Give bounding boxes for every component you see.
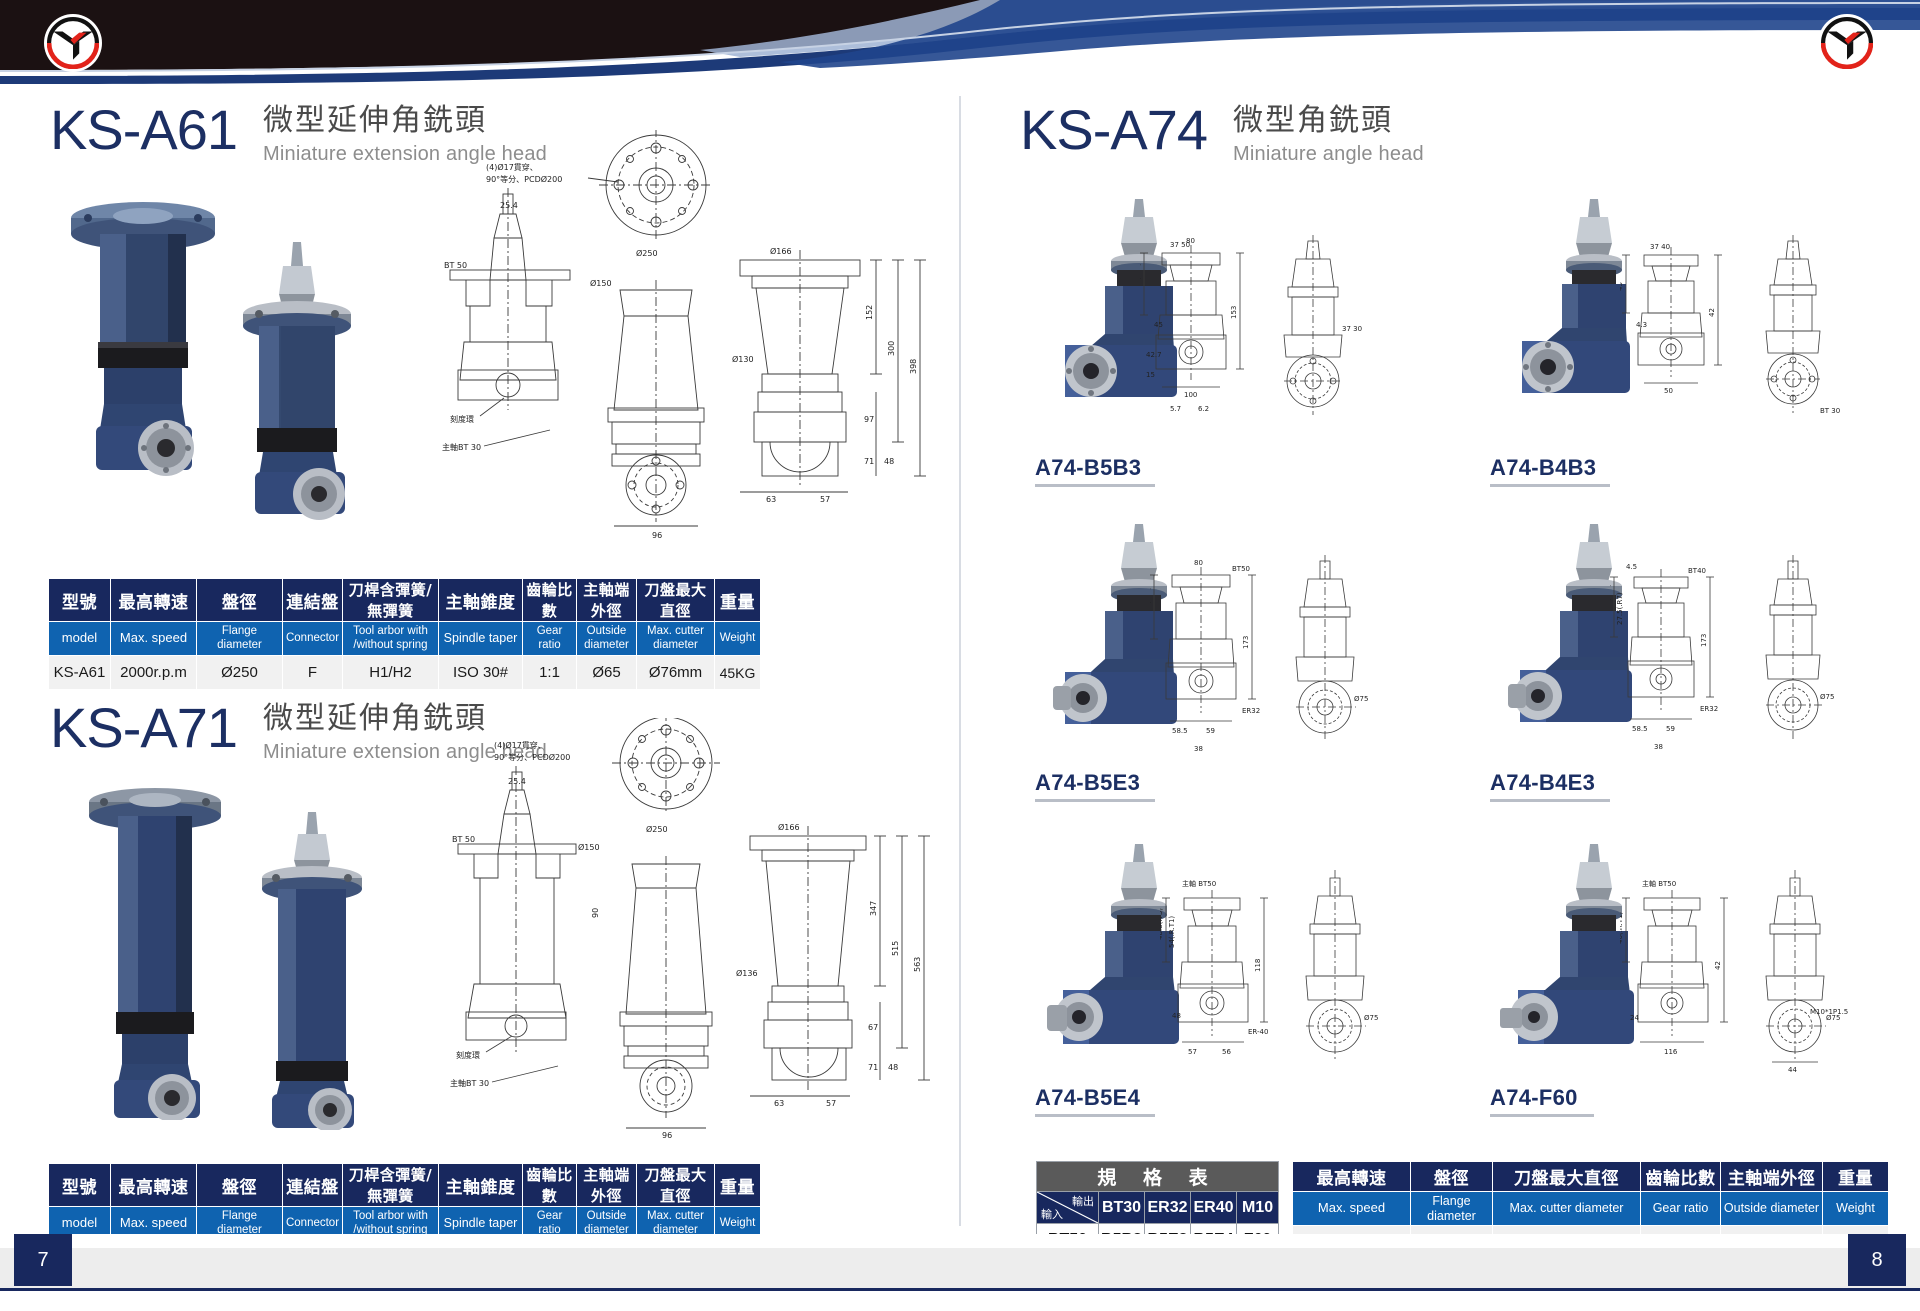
model-label: A74-B5E4 (1035, 1085, 1140, 1111)
model-caption-a74-f60: A74-F60 (1490, 1085, 1594, 1117)
svg-text:Ø75: Ø75 (1820, 693, 1834, 701)
svg-text:6.2: 6.2 (1198, 405, 1209, 413)
col-header-weight: 重量 (1823, 1162, 1889, 1192)
svg-text:主軸BT 30: 主軸BT 30 (442, 442, 481, 452)
col-subheader-flange-dia: Flange diameter (197, 622, 283, 656)
matrix-title: 規 格 表 (1037, 1162, 1279, 1192)
cell-connector: F (283, 656, 343, 690)
svg-text:BT40: BT40 (1688, 567, 1706, 575)
svg-text:刻度環: 刻度環 (456, 1050, 480, 1060)
svg-text:116: 116 (1664, 1048, 1678, 1056)
svg-text:46(.R.T1): 46(.R.T1) (1620, 912, 1624, 944)
svg-text:Ø130: Ø130 (732, 354, 754, 364)
cell-max-cutter: Ø76mm (637, 656, 715, 690)
model-label: A74-B5E3 (1035, 770, 1140, 796)
model-caption-a74-b5b3: A74-B5B3 (1035, 455, 1155, 487)
svg-text:173: 173 (1242, 636, 1250, 649)
svg-text:27.5(.R7): 27.5(.R7) (1616, 592, 1624, 625)
col-subheader-flange-dia: Flange diameter (1411, 1192, 1493, 1226)
col-header-weight: 重量 (715, 579, 761, 622)
matrix-col-header-bt30: BT30 (1099, 1192, 1145, 1224)
table-header-en-row: Max. speed Flange diameter Max. cutter d… (1293, 1192, 1889, 1226)
technical-drawing-ks-a71: (4)Ø17貫穿、 90°等分、PCDØ200 25.4 BT 50 Ø150 … (450, 718, 950, 1138)
model-caption-a74-b4b3: A74-B4B3 (1490, 455, 1610, 487)
matrix-title-row: 規 格 表 (1037, 1162, 1279, 1192)
col-header-connector: 連結盤 (283, 579, 343, 622)
svg-text:Ø250: Ø250 (636, 248, 658, 258)
matrix-col-header-er32: ER32 (1145, 1192, 1191, 1224)
col-header-outside-dia: 主軸端外徑 (577, 1164, 637, 1207)
svg-text:63: 63 (774, 1099, 784, 1108)
cell-flange-dia: Ø250 (197, 656, 283, 690)
svg-text:Ø75: Ø75 (1354, 695, 1368, 703)
svg-text:118: 118 (1254, 959, 1262, 972)
svg-text:54(.R.T1): 54(.R.T1) (1168, 916, 1176, 948)
svg-text:173: 173 (1700, 634, 1708, 647)
svg-text:515: 515 (891, 941, 900, 956)
model-caption-a74-b5e4: A74-B5E4 (1035, 1085, 1155, 1117)
svg-text:42.7: 42.7 (1146, 351, 1162, 359)
svg-text:ER32: ER32 (1242, 707, 1260, 715)
svg-text:97: 97 (864, 415, 874, 424)
svg-text:96: 96 (652, 531, 662, 540)
product-code: KS-A71 (50, 700, 237, 756)
technical-drawing-a74-b5e4-front: Ø75 (1282, 870, 1392, 1080)
svg-text:347: 347 (869, 901, 878, 916)
svg-text:15: 15 (1146, 371, 1155, 379)
matrix-corner-input-label: 輸入 (1041, 1206, 1063, 1222)
svg-text:38: 38 (1654, 743, 1663, 751)
svg-text:48: 48 (888, 1063, 898, 1072)
matrix-corner-output-label: 輸出 (1072, 1193, 1094, 1209)
technical-drawing-a74-b5b3-front: 37 30 (1260, 235, 1370, 435)
svg-text:42: 42 (1708, 308, 1716, 317)
svg-text:主軸 BT50: 主軸 BT50 (1182, 879, 1216, 888)
spec-table-ks-a61: 型號 最高轉速 盤徑 連結盤 刀桿含彈簧/無彈簧 主軸錐度 齒輪比數 主軸端外徑… (48, 578, 761, 690)
svg-text:(4)Ø17貫穿、: (4)Ø17貫穿、 (486, 162, 538, 172)
col-header-weight: 重量 (715, 1164, 761, 1207)
caption-underline (1490, 1114, 1594, 1117)
technical-drawing-a74-f60-side: 主軸 BT50 46(.R.T1) 42 116 24 (1620, 870, 1755, 1080)
cell-tool-arbor: H1/H2 (343, 656, 439, 690)
svg-text:16(.R3): 16(.R3) (1140, 263, 1142, 289)
svg-text:Ø150: Ø150 (590, 278, 612, 288)
cell-max-speed: 2000r.p.m (111, 656, 197, 690)
svg-text:BT50: BT50 (1232, 565, 1250, 573)
col-header-model: 型號 (49, 579, 111, 622)
svg-text:主軸BT 30: 主軸BT 30 (450, 1078, 489, 1088)
table-header-cn-row: 最高轉速 盤徑 刀盤最大直徑 齒輪比數 主軸端外徑 重量 (1293, 1162, 1889, 1192)
svg-text:90°等分、PCDØ200: 90°等分、PCDØ200 (486, 174, 562, 184)
svg-text:Ø150: Ø150 (578, 842, 600, 852)
svg-text:Ø250: Ø250 (646, 824, 668, 834)
svg-text:38: 38 (1194, 745, 1203, 753)
svg-text:96: 96 (662, 1131, 672, 1138)
svg-text:90°等分、PCDØ200: 90°等分、PCDØ200 (494, 752, 570, 762)
svg-text:ER-40: ER-40 (1248, 1028, 1268, 1036)
svg-text:(4)Ø17貫穿、: (4)Ø17貫穿、 (494, 740, 546, 750)
svg-text:153: 153 (1230, 306, 1238, 319)
model-caption-a74-b4e3: A74-B4E3 (1490, 770, 1610, 802)
svg-text:25.4: 25.4 (508, 777, 526, 786)
svg-text:45: 45 (1154, 321, 1163, 329)
svg-text:59: 59 (1206, 727, 1215, 735)
svg-text:BT 50: BT 50 (444, 261, 467, 270)
col-subheader-max-cutter: Max. cutter diameter (637, 622, 715, 656)
col-subheader-max-speed: Max. speed (111, 622, 197, 656)
banner-swoosh-graphic (0, 0, 1920, 84)
company-logo-right (1818, 14, 1876, 72)
svg-text:58.5: 58.5 (1632, 725, 1648, 733)
svg-text:Ø136: Ø136 (736, 968, 758, 978)
table-header-en-row: model Max. speed Flange diameter Connect… (49, 622, 761, 656)
page-footer: 7 8 (0, 1234, 1920, 1311)
svg-text:Ø166: Ø166 (770, 246, 792, 256)
svg-text:38.3(.H9): 38.3(.H9) (1610, 584, 1612, 617)
model-label: A74-F60 (1490, 1085, 1578, 1111)
catalog-page: KS-A61 微型延伸角銑頭 Miniature extension angle… (0, 0, 1920, 1311)
col-subheader-gear-ratio: Gear ratio (523, 622, 577, 656)
caption-underline (1035, 799, 1155, 802)
technical-drawing-a74-b4b3-front: BT 30 (1740, 235, 1850, 435)
table-header-cn-row: 型號 最高轉速 盤徑 連結盤 刀桿含彈簧/無彈簧 主軸錐度 齒輪比數 主軸端外徑… (49, 579, 761, 622)
svg-text:Ø75: Ø75 (1826, 1014, 1840, 1022)
col-header-model: 型號 (49, 1164, 111, 1207)
col-header-max-cutter: 刀盤最大直徑 (637, 1164, 715, 1207)
col-subheader-connector: Connector (283, 622, 343, 656)
page-number-right: 8 (1848, 1234, 1906, 1286)
technical-drawing-a74-b4e3-side: 4.5 BT40 38.3(.H9) 27.5(.R7) 173 ER32 58… (1610, 555, 1740, 765)
col-header-flange-dia: 盤徑 (1411, 1162, 1493, 1192)
product-photo-ks-a71-angled (230, 810, 400, 1130)
company-logo-left (44, 14, 102, 72)
svg-text:37 40: 37 40 (1650, 243, 1670, 251)
technical-drawing-a74-b4e3-front: Ø75 (1740, 555, 1850, 765)
col-subheader-weight: Weight (1823, 1192, 1889, 1226)
product-photo-a74-b4b3 (1490, 195, 1640, 435)
technical-drawing-a74-b5e4-side: 主軸 BT50 48.8(.T3) 54(.R.T1) 118 ER-40 57… (1160, 870, 1295, 1080)
caption-underline (1035, 1114, 1155, 1117)
table-row: KS-A61 2000r.p.m Ø250 F H1/H2 ISO 30# 1:… (49, 656, 761, 690)
svg-text:100: 100 (1184, 391, 1197, 399)
col-subheader-outside-dia: Outside diameter (1721, 1192, 1823, 1226)
col-subheader-model: model (49, 622, 111, 656)
model-label: A74-B5B3 (1035, 455, 1141, 481)
svg-text:4.5: 4.5 (1626, 563, 1637, 571)
svg-text:59: 59 (1666, 725, 1675, 733)
svg-text:44: 44 (1788, 1066, 1797, 1074)
svg-text:71: 71 (864, 457, 874, 466)
caption-underline (1490, 484, 1610, 487)
svg-text:48: 48 (884, 457, 894, 466)
svg-text:58.5: 58.5 (1172, 727, 1188, 735)
col-subheader-outside-dia: Outside diameter (577, 622, 637, 656)
svg-text:48: 48 (1172, 1012, 1181, 1020)
col-header-connector: 連結盤 (283, 1164, 343, 1207)
footer-band (0, 1248, 1920, 1288)
cell-weight: 45KG (715, 656, 761, 690)
col-header-gear-ratio: 齒輪比數 (523, 579, 577, 622)
product-title-en: Miniature angle head (1233, 141, 1424, 167)
col-subheader-gear-ratio: Gear ratio (1641, 1192, 1721, 1226)
technical-drawing-a74-b5e3-side: 80 BT50 16(.R3) 173 ER32 58.5 59 38 (1150, 555, 1280, 765)
col-subheader-max-cutter: Max. cutter diameter (1493, 1192, 1641, 1226)
svg-text:4.3: 4.3 (1636, 321, 1647, 329)
matrix-header-row: 輸出 輸入 BT30 ER32 ER40 M10 (1037, 1192, 1279, 1224)
svg-text:63: 63 (766, 495, 776, 504)
page-number-left: 7 (14, 1234, 72, 1286)
col-header-max-speed: 最高轉速 (1293, 1162, 1411, 1192)
footer-rule (0, 1288, 1920, 1291)
col-header-max-speed: 最高轉速 (111, 1164, 197, 1207)
cell-outside-dia: Ø65 (577, 656, 637, 690)
product-photo-ks-a61-angled (215, 240, 385, 540)
svg-text:80: 80 (1194, 559, 1203, 567)
table-header-cn-row: 型號 最高轉速 盤徑 連結盤 刀桿含彈簧/無彈簧 主軸錐度 齒輪比數 主軸端外徑… (49, 1164, 761, 1207)
svg-text:42: 42 (1714, 961, 1722, 970)
col-header-outside-dia: 主軸端外徑 (577, 579, 637, 622)
company-logo-icon (1821, 17, 1873, 69)
col-header-max-cutter: 刀盤最大直徑 (637, 579, 715, 622)
technical-drawing-a74-b4b3-side: 37 40 43 42 4.3 50 (1620, 235, 1750, 435)
col-header-gear-ratio: 齒輪比數 (523, 1164, 577, 1207)
svg-text:398: 398 (909, 359, 918, 374)
cell-gear-ratio: 1:1 (523, 656, 577, 690)
svg-text:ER32: ER32 (1700, 705, 1718, 713)
svg-text:50: 50 (1664, 387, 1673, 395)
col-header-outside-dia: 主軸端外徑 (1721, 1162, 1823, 1192)
col-header-flange-dia: 盤徑 (197, 579, 283, 622)
technical-drawing-a74-b5e3-front: Ø75 (1272, 555, 1382, 765)
company-logo-icon (47, 17, 99, 69)
col-header-spindle-taper: 主軸錐度 (439, 579, 523, 622)
product-title-ks-a74: KS-A74 微型角銑頭 Miniature angle head (1020, 102, 1424, 167)
model-caption-a74-b5e3: A74-B5E3 (1035, 770, 1155, 802)
col-header-max-speed: 最高轉速 (111, 579, 197, 622)
col-subheader-tool-arbor: Tool arbor with /without spring (343, 622, 439, 656)
svg-text:16(.R3): 16(.R3) (1150, 587, 1152, 613)
svg-text:37 30: 37 30 (1342, 325, 1362, 333)
svg-text:57: 57 (820, 495, 830, 504)
caption-underline (1490, 799, 1610, 802)
cell-model: KS-A61 (49, 656, 111, 690)
svg-text:57: 57 (1188, 1048, 1197, 1056)
svg-text:主軸 BT50: 主軸 BT50 (1642, 879, 1676, 888)
col-header-max-cutter: 刀盤最大直徑 (1493, 1162, 1641, 1192)
technical-drawing-a74-b5b3-side: 37 50 80 16(.R3) 153 100 45 42.7 15 5.7 … (1140, 235, 1270, 435)
svg-text:43: 43 (1620, 282, 1624, 291)
model-label: A74-B4B3 (1490, 455, 1596, 481)
cell-spindle-taper: ISO 30# (439, 656, 523, 690)
col-subheader-max-speed: Max. speed (1293, 1192, 1411, 1226)
product-code: KS-A61 (50, 102, 237, 158)
col-header-gear-ratio: 齒輪比數 (1641, 1162, 1721, 1192)
product-title-cn: 微型角銑頭 (1233, 104, 1424, 139)
technical-drawing-a74-f60-front: M10*1P1.5 44 Ø75 (1742, 870, 1852, 1080)
matrix-corner-cell: 輸出 輸入 (1037, 1192, 1099, 1224)
svg-text:152: 152 (865, 305, 874, 320)
product-photo-ks-a71-front (60, 780, 250, 1120)
svg-text:Ø75: Ø75 (1364, 1014, 1378, 1022)
svg-text:90: 90 (591, 908, 600, 918)
col-header-flange-dia: 盤徑 (197, 1164, 283, 1207)
product-code: KS-A74 (1020, 102, 1207, 158)
col-header-tool-arbor: 刀桿含彈簧/無彈簧 (343, 579, 439, 622)
product-photo-ks-a61-front (48, 190, 238, 490)
page-center-divider (959, 96, 961, 1226)
svg-text:57: 57 (826, 1099, 836, 1108)
technical-drawing-ks-a61: (4)Ø17貫穿、 90°等分、PCDØ200 25.4 BT 50 Ø150 … (440, 130, 950, 560)
svg-text:BT 30: BT 30 (1820, 407, 1840, 415)
svg-text:5.7: 5.7 (1170, 405, 1181, 413)
svg-text:56: 56 (1222, 1048, 1231, 1056)
svg-text:48.8(.T3): 48.8(.T3) (1160, 908, 1164, 940)
svg-text:25.4: 25.4 (500, 201, 518, 210)
svg-text:刻度環: 刻度環 (450, 414, 474, 424)
svg-text:Ø166: Ø166 (778, 822, 800, 832)
svg-text:67: 67 (868, 1023, 878, 1032)
svg-text:71: 71 (868, 1063, 878, 1072)
svg-text:BT 50: BT 50 (452, 835, 475, 844)
svg-text:24: 24 (1630, 1014, 1639, 1022)
col-header-spindle-taper: 主軸錐度 (439, 1164, 523, 1207)
col-header-tool-arbor: 刀桿含彈簧/無彈簧 (343, 1164, 439, 1207)
matrix-col-header-m10: M10 (1237, 1192, 1279, 1224)
top-banner (0, 0, 1920, 84)
svg-text:300: 300 (887, 341, 896, 356)
col-subheader-weight: Weight (715, 622, 761, 656)
matrix-col-header-er40: ER40 (1191, 1192, 1237, 1224)
caption-underline (1035, 484, 1155, 487)
svg-text:563: 563 (913, 957, 922, 972)
col-subheader-spindle-taper: Spindle taper (439, 622, 523, 656)
model-label: A74-B4E3 (1490, 770, 1595, 796)
svg-text:80: 80 (1186, 237, 1195, 245)
